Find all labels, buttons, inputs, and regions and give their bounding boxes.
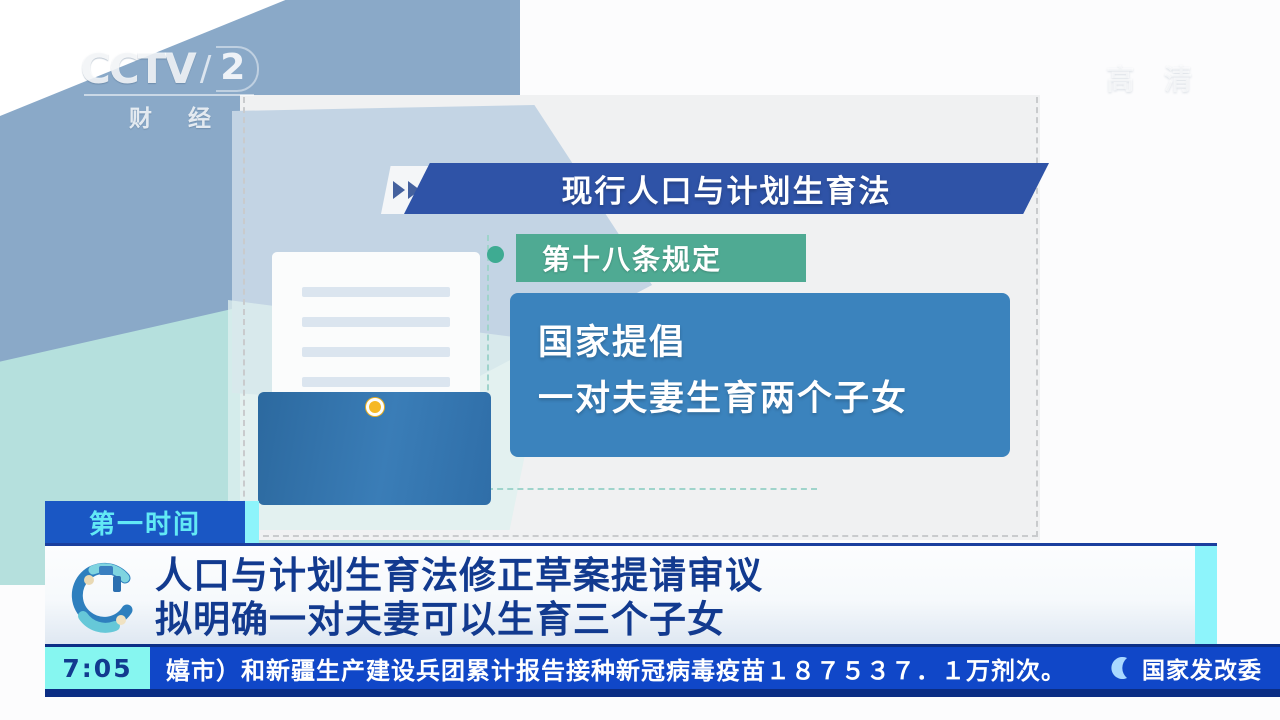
- document-line: [302, 287, 450, 297]
- law-content-line-2: 一对夫妻生育两个子女: [538, 371, 1010, 427]
- ticker-time-text: 7:05: [62, 654, 132, 683]
- program-tab-cap: [245, 501, 259, 543]
- chevron-glyph: [393, 181, 405, 199]
- program-name-text: 第一时间: [89, 504, 201, 541]
- ticker-scroll-text: 嬉市）和新疆生产建设兵团累计报告接种新冠病毒疫苗１８７５３７．１万剂次。: [150, 651, 1100, 686]
- article-chip-text: 第十八条规定: [542, 238, 722, 278]
- circular-arc-logo-icon: [63, 558, 141, 636]
- law-content-card: 国家提倡 一对夫妻生育两个子女: [510, 293, 1010, 457]
- law-content-line-1: 国家提倡: [538, 315, 1010, 371]
- crescent-icon: [1110, 656, 1132, 680]
- gold-stud-icon: [366, 398, 384, 416]
- ticker-source: 国家发改委: [1100, 647, 1280, 689]
- channel-logo: CCTV / 2 财 经: [80, 44, 260, 134]
- ticker-bottom-rule: [45, 689, 1280, 697]
- channel-logo-row: CCTV / 2: [80, 44, 260, 93]
- headline-line-2: 拟明确一对夫妻可以生育三个子女: [155, 598, 763, 642]
- ticker-message: 嬉市）和新疆生产建设兵团累计报告接种新冠病毒疫苗１８７５３７．１万剂次。: [166, 657, 1066, 685]
- program-name-tab: 第一时间: [45, 501, 245, 543]
- headline-bar-cap: [1195, 546, 1217, 644]
- document-line: [302, 317, 450, 327]
- broadcast-frame: CCTV / 2 财 经 高 清 现行人口与计划生育法 第十八条规定 国家提倡 …: [0, 0, 1280, 720]
- document-line: [302, 377, 450, 387]
- graphic-title-text: 现行人口与计划生育法: [562, 166, 892, 211]
- ticker-source-label: 国家发改委: [1142, 651, 1262, 685]
- channel-logo-subtitle: 财 经: [80, 99, 260, 133]
- news-ticker: 7:05 嬉市）和新疆生产建设兵团累计报告接种新冠病毒疫苗１８７５３７．１万剂次…: [45, 644, 1280, 689]
- headline-bar: 人口与计划生育法修正草案提请审议 拟明确一对夫妻可以生育三个子女: [45, 543, 1217, 644]
- channel-logo-slash: /: [200, 49, 211, 89]
- green-dot-icon: [487, 246, 504, 263]
- headline-text-block: 人口与计划生育法修正草案提请审议 拟明确一对夫妻可以生育三个子女: [155, 554, 763, 642]
- document-paper-illustration: [272, 252, 480, 412]
- headline-line-1: 人口与计划生育法修正草案提请审议: [155, 554, 763, 598]
- channel-logo-rule: [84, 94, 254, 96]
- hd-badge: 高 清: [1106, 58, 1202, 98]
- graphic-title-banner: 现行人口与计划生育法: [404, 163, 1049, 214]
- channel-logo-number: 2: [216, 46, 259, 92]
- article-chip: 第十八条规定: [516, 234, 806, 282]
- channel-logo-text: CCTV: [80, 44, 195, 93]
- document-line: [302, 347, 450, 357]
- ticker-clock: 7:05: [45, 647, 150, 689]
